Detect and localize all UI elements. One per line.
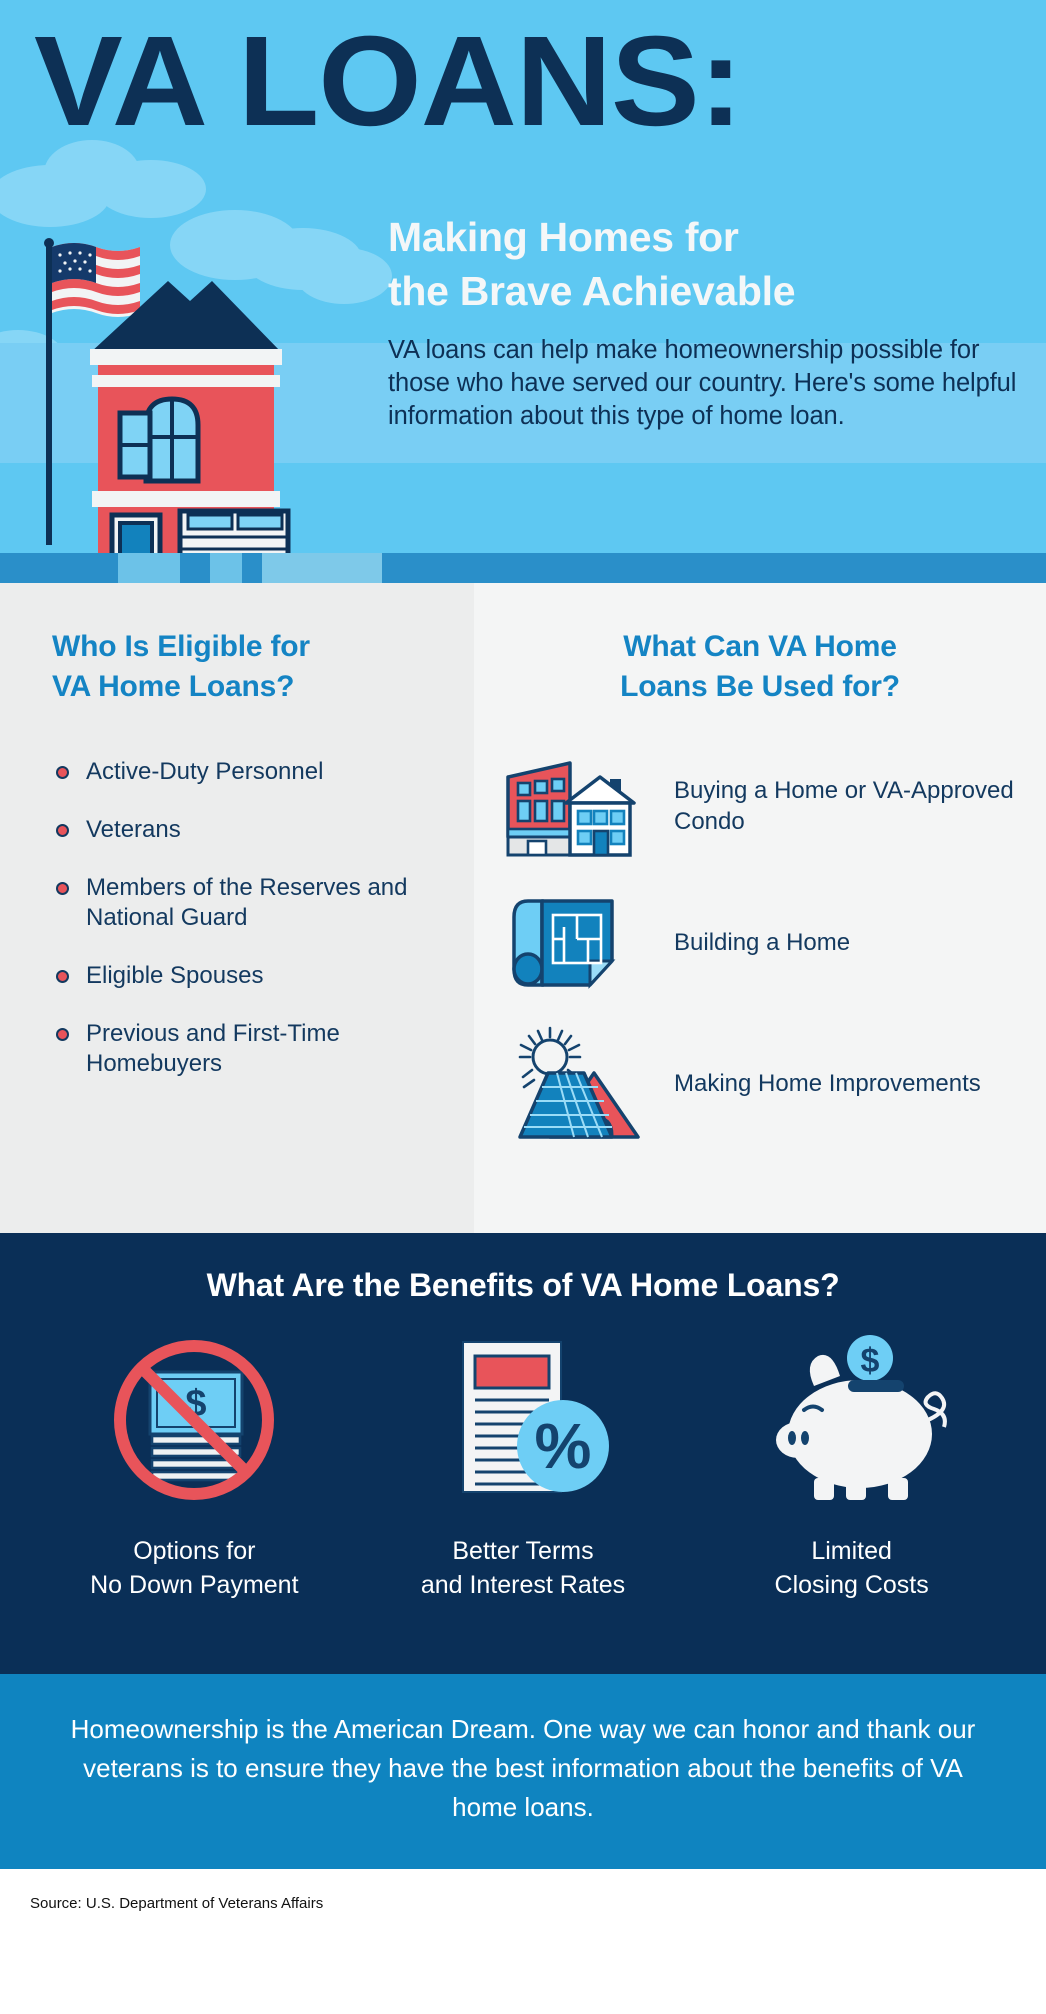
benefit-label-line-1: Better Terms <box>373 1534 673 1568</box>
list-item-label: Active-Duty Personnel <box>86 758 323 785</box>
hero-text-block: Making Homes for the Brave Achievable VA… <box>388 210 1018 433</box>
uses-list: Buying a Home or VA-Approved Condo <box>498 751 1022 1143</box>
list-item: Eligible Spouses <box>52 961 444 991</box>
benefit-item: % Better Terms and Interest Rates <box>373 1328 673 1602</box>
bullet-dot-icon <box>56 882 69 895</box>
list-item: Making Home Improvements <box>498 1023 1022 1143</box>
benefit-label: Better Terms and Interest Rates <box>373 1534 673 1602</box>
stripe-segment <box>262 553 382 583</box>
svg-text:%: % <box>535 1410 592 1482</box>
closing-section: Homeownership is the American Dream. One… <box>0 1674 1046 1869</box>
eligibility-list: Active-Duty Personnel Veterans Members o… <box>52 757 444 1079</box>
svg-text:$: $ <box>860 1342 879 1380</box>
blueprint-icon <box>498 887 648 997</box>
hero-subtitle-line-2: the Brave Achievable <box>388 264 1018 318</box>
hero-subtitle-line-1: Making Homes for <box>388 210 1018 264</box>
benefit-label: Limited Closing Costs <box>702 1534 1002 1602</box>
list-item: Veterans <box>52 815 444 845</box>
list-item: Building a Home <box>498 887 1022 997</box>
list-item-label: Eligible Spouses <box>86 962 263 989</box>
page-title: VA LOANS: <box>34 18 1046 146</box>
no-money-icon: $ <box>44 1328 344 1508</box>
closing-text: Homeownership is the American Dream. One… <box>56 1710 990 1827</box>
list-item-label: Making Home Improvements <box>648 1068 981 1099</box>
hero-paragraph: VA loans can help make homeownership pos… <box>388 334 1018 433</box>
benefit-item: $ Options f <box>44 1328 344 1602</box>
list-item: Members of the Reserves and National Gua… <box>52 873 444 933</box>
bullet-dot-icon <box>56 970 69 983</box>
eligibility-heading: Who Is Eligible for VA Home Loans? <box>52 627 444 707</box>
condo-and-house-icon <box>498 751 648 861</box>
benefit-label-line-2: and Interest Rates <box>373 1568 673 1602</box>
bullet-dot-icon <box>56 824 69 837</box>
uses-heading-line-1: What Can VA Home <box>538 627 982 667</box>
eligibility-heading-line-2: VA Home Loans? <box>52 667 444 707</box>
bullet-dot-icon <box>56 1028 69 1041</box>
eligibility-column: Who Is Eligible for VA Home Loans? Activ… <box>0 583 474 1233</box>
list-item-label: Veterans <box>86 816 181 843</box>
benefits-row: $ Options f <box>0 1328 1046 1602</box>
benefit-item: $ <box>702 1328 1002 1602</box>
uses-column: What Can VA Home Loans Be Used for? <box>474 583 1046 1233</box>
hero-bottom-stripe <box>0 553 1046 583</box>
benefit-label-line-1: Limited <box>702 1534 1002 1568</box>
uses-heading-line-2: Loans Be Used for? <box>538 667 982 707</box>
benefit-label-line-1: Options for <box>44 1534 344 1568</box>
piggy-bank-icon: $ <box>702 1328 1002 1508</box>
document-percent-icon: % <box>373 1328 673 1508</box>
uses-heading: What Can VA Home Loans Be Used for? <box>498 627 1022 707</box>
eligibility-heading-line-1: Who Is Eligible for <box>52 627 444 667</box>
stripe-segment <box>118 553 180 583</box>
list-item-label: Building a Home <box>648 927 850 958</box>
list-item: Previous and First-Time Homebuyers <box>52 1019 444 1079</box>
source-line: Source: U.S. Department of Veterans Affa… <box>0 1869 1046 1912</box>
benefits-section: What Are the Benefits of VA Home Loans? … <box>0 1233 1046 1674</box>
list-item-label: Buying a Home or VA-Approved Condo <box>648 775 1022 837</box>
benefit-label-line-2: No Down Payment <box>44 1568 344 1602</box>
cloud-icon <box>96 160 206 218</box>
benefit-label: Options for No Down Payment <box>44 1534 344 1602</box>
solar-panel-roof-icon <box>498 1023 648 1143</box>
stripe-segment <box>210 553 242 583</box>
benefits-heading: What Are the Benefits of VA Home Loans? <box>0 1267 1046 1304</box>
infographic-page: VA LOANS: <box>0 0 1046 2014</box>
list-item: Buying a Home or VA-Approved Condo <box>498 751 1022 861</box>
list-item-label: Previous and First-Time Homebuyers <box>86 1020 340 1077</box>
list-item-label: Members of the Reserves and National Gua… <box>86 874 407 931</box>
bullet-dot-icon <box>56 766 69 779</box>
benefit-label-line-2: Closing Costs <box>702 1568 1002 1602</box>
middle-section: Who Is Eligible for VA Home Loans? Activ… <box>0 583 1046 1233</box>
list-item: Active-Duty Personnel <box>52 757 444 787</box>
hero-section: VA LOANS: <box>0 0 1046 583</box>
house-with-flag-illustration <box>20 223 340 553</box>
